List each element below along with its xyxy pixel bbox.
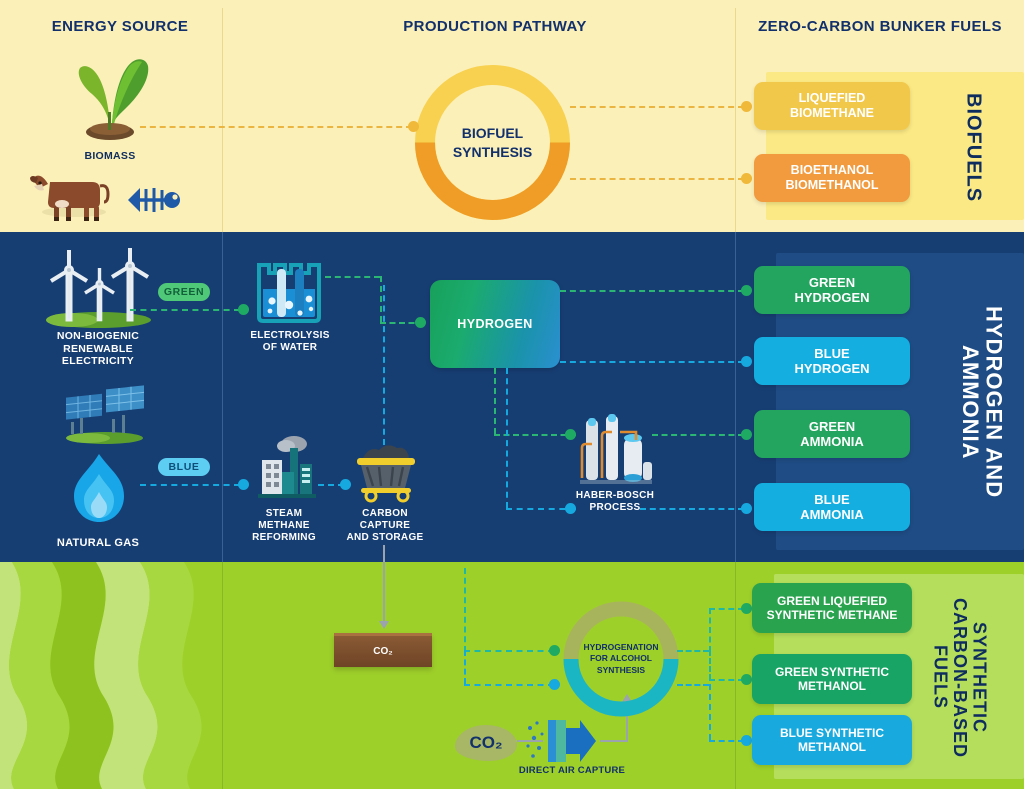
fuel-label: GREEN HYDROGEN [794,275,869,306]
connector-hydrogenation-out-top [677,650,709,652]
connector-synthesis-to-bioethanol [570,178,744,180]
cow-icon [28,164,112,222]
connector-gas-to-smr [140,484,240,486]
biofuel-synthesis-donut: BIOFUEL SYNTHESIS [415,65,570,220]
infographic-canvas: ENERGY SOURCE PRODUCTION PATHWAY ZERO-CA… [0,0,1024,789]
connector-dot-green-methane [741,603,752,614]
connector-electrolysis-out-v [380,276,382,322]
electrolysis-label: ELECTROLYSIS OF WATER [228,330,352,354]
fish-bone-icon [120,180,182,220]
connector-to-blue-methanol [709,740,744,742]
side-label-synthetic-fuels: SYNTHETIC CARBON-BASED FUELS [930,580,988,775]
electrolysis-icon [253,255,325,323]
factory-icon [250,430,324,502]
non-biogenic-electricity-label: NON-BIOGENIC RENEWABLE ELECTRICITY [28,330,168,368]
connector-riser-methane [709,608,711,652]
gas-flame-icon [62,452,136,524]
haber-bosch-label: HABER-BOSCH PROCESS [565,490,665,514]
connector-dot-smr-in [238,479,249,490]
chemical-plant-icon [576,410,654,488]
connector-hydrogen-down-green [494,368,496,434]
connector-electrolysis-out-h [325,276,380,278]
connector-dot-haber-blue-in [565,503,576,514]
connector-drop-blue-methanol [709,684,711,740]
connector-renewables-to-electrolysis [130,309,240,311]
connector-green-h2-down [464,568,466,652]
column-divider-2-hydrogen [735,232,736,562]
wind-turbine-icon [42,248,157,328]
connector-dot-blue-hydrogen [741,356,752,367]
connector-to-green-methanol [709,679,744,681]
fuel-label: BLUE SYNTHETIC METHANOL [780,726,884,754]
connector-dot-green-ammonia [741,429,752,440]
co2-storage-block: CO₂ [334,633,432,667]
direct-air-capture-label: DIRECT AIR CAPTURE [512,765,632,776]
connector-dot-lng [741,101,752,112]
solar-panel-icon [62,382,148,444]
header-bunker-fuels: ZERO-CARBON BUNKER FUELS [740,18,1020,35]
fuel-green-liquefied-synthetic-methane[interactable]: GREEN LIQUEFIED SYNTHETIC METHANE [752,583,912,633]
tag-blue: BLUE [158,458,210,476]
connector-dot-hydrogenation-green [549,645,560,656]
seedling-icon [62,52,162,142]
hydrogenation-donut: HYDROGENATION FOR ALCOHOL SYNTHESIS [565,603,677,715]
connector-hydrogenation-out-bottom [677,684,709,686]
co2-storage-label: CO₂ [373,646,392,657]
fuel-blue-hydrogen[interactable]: BLUE HYDROGEN [754,337,910,385]
hydrogen-intermediate-box[interactable]: HYDROGEN [430,280,560,368]
fuel-blue-ammonia[interactable]: BLUE AMMONIA [754,483,910,531]
connector-biomass-to-synthesis [140,126,412,128]
connector-haber-to-green-ammonia [652,434,744,436]
fuel-blue-synthetic-methanol[interactable]: BLUE SYNTHETIC METHANOL [752,715,912,765]
connector-dot-electrolysis-in [238,304,249,315]
fuel-label: BLUE HYDROGEN [794,346,869,377]
connector-dot-hydrogen-in [415,317,426,328]
fuel-label: GREEN SYNTHETIC METHANOL [775,665,889,693]
biofuel-synthesis-label: BIOFUEL SYNTHESIS [439,89,546,196]
co2-cloud-icon: CO₂ [455,725,517,761]
fuel-label: GREEN LIQUEFIED SYNTHETIC METHANE [767,594,898,622]
connector-co2-to-dac [517,740,543,742]
connector-ccs-up [383,285,385,445]
connector-synthesis-to-lng [570,106,744,108]
side-label-hydrogen-ammonia: HYDROGEN AND AMMONIA [958,262,1006,542]
tag-green: GREEN [158,283,210,301]
fuel-label: LIQUEFIED BIOMETHANE [790,91,874,121]
column-divider-2-synthetic [735,562,736,789]
fuel-green-synthetic-methanol[interactable]: GREEN SYNTHETIC METHANOL [752,654,912,704]
fuel-label: BIOETHANOL BIOMETHANOL [785,163,878,193]
biomass-label: BIOMASS [40,150,180,163]
connector-hydrogen-to-blue-h2 [560,361,744,363]
fuel-green-ammonia[interactable]: GREEN AMMONIA [754,410,910,458]
fuel-bioethanol-biomethanol[interactable]: BIOETHANOL BIOMETHANOL [754,154,910,202]
connector-dot-green-methanol [741,674,752,685]
connector-haber-to-blue-ammonia [640,508,744,510]
header-energy-source: ENERGY SOURCE [20,18,220,35]
column-divider-1-hydrogen [222,232,223,562]
connector-dot-blue-ammonia [741,503,752,514]
connector-dot-blue-methanol [741,735,752,746]
carbon-capture-storage-label: CARBON CAPTURE AND STORAGE [330,508,440,544]
connector-dot-haber-green-in [565,429,576,440]
connector-dot-green-hydrogen [741,285,752,296]
connector-dot-bioethanol [741,173,752,184]
natural-gas-label: NATURAL GAS [28,537,168,550]
fuel-label: GREEN AMMONIA [800,419,864,450]
connector-to-green-methane [709,608,744,610]
connector-to-hydrogenation-green [464,650,554,652]
connector-dot-biofuel-in [408,121,419,132]
connector-hydrogen-down-blue [506,368,508,508]
connector-ccs-to-co2-storage [383,545,385,623]
hydrogenation-label: HYDROGENATION FOR ALCOHOL SYNTHESIS [582,620,660,698]
header-production-pathway: PRODUCTION PATHWAY [350,18,640,35]
column-divider-2-biofuels [735,8,736,232]
fuel-green-hydrogen[interactable]: GREEN HYDROGEN [754,266,910,314]
coal-cart-icon [347,440,423,502]
column-divider-1-biofuels [222,8,223,232]
connector-to-hydrogenation-blue [464,684,554,686]
column-divider-1-synthetic [222,562,223,789]
connector-blue-down [464,650,466,684]
side-label-biofuels: BIOFUELS [962,78,984,218]
fuel-label: BLUE AMMONIA [800,492,864,523]
connector-drop-methanol [709,650,711,680]
co2-cloud-label: CO₂ [469,733,502,753]
steam-methane-reforming-label: STEAM METHANE REFORMING [230,508,338,544]
connector-hydrogen-to-green-h2 [560,290,744,292]
connector-dac-out [600,740,628,742]
wave-decoration [0,562,230,789]
connector-dot-ccs-in [340,479,351,490]
connector-dot-hydrogenation-blue [549,679,560,690]
fuel-liquefied-biomethane[interactable]: LIQUEFIED BIOMETHANE [754,82,910,130]
hydrogen-box-label: HYDROGEN [457,317,532,331]
arrowhead-co2-storage [379,621,389,629]
